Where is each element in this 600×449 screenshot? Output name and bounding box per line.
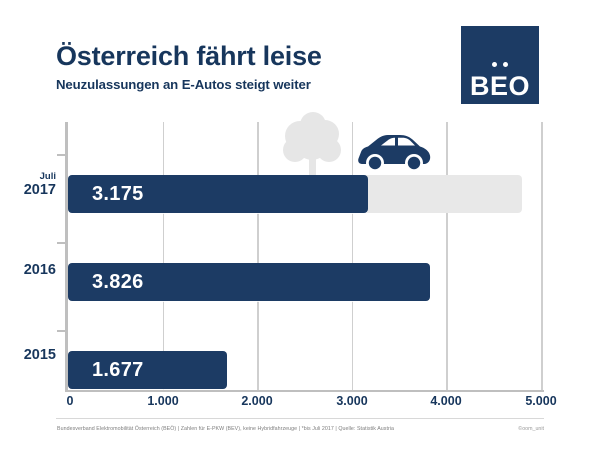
car-icon (356, 130, 432, 178)
y-label-2017-main: 2017 (24, 182, 60, 199)
logo-text: BEO (461, 73, 539, 100)
y-axis-labels: Juli 2017 2016 2015 (0, 122, 60, 390)
logo-dots-icon (461, 62, 539, 67)
gridline-4000 (446, 122, 448, 390)
y-label-2015-main: 2015 (24, 347, 60, 364)
bar-label-2015: 1.677 (92, 351, 144, 389)
gridline-2000 (257, 122, 259, 390)
footer-credit-text: ©oom_unit (518, 426, 544, 432)
x-axis-line (65, 390, 544, 392)
page-subtitle: Neuzulassungen an E-Autos steigt weiter (56, 77, 456, 92)
page-title: Österreich fährt leise (56, 42, 456, 70)
y-label-2015: 2015 (24, 347, 60, 364)
chart-plot-area: 3.175 3.826 1.677 (68, 122, 541, 390)
x-tick-label-5000: 5.000 (525, 394, 556, 408)
gridline-1000 (163, 122, 165, 390)
logo-dot-left (492, 62, 497, 67)
header: Österreich fährt leise Neuzulassungen an… (56, 42, 456, 92)
x-tick-label-4000: 4.000 (430, 394, 461, 408)
y-label-2017: Juli 2017 (24, 172, 60, 199)
footer-source-text: Bundesverband Elektromobilität Österreic… (57, 426, 394, 432)
y-axis-line (65, 122, 68, 390)
y-tick-2015 (57, 330, 65, 332)
gridline-5000 (541, 122, 543, 390)
y-tick-2017 (57, 154, 65, 156)
bar-label-2016: 3.826 (92, 263, 144, 301)
x-tick-label-3000: 3.000 (336, 394, 367, 408)
x-tick-label-1000: 1.000 (147, 394, 178, 408)
y-tick-2016 (57, 242, 65, 244)
x-tick-label-2000: 2.000 (241, 394, 272, 408)
bar-label-2017: 3.175 (92, 175, 144, 213)
gridline-3000 (352, 122, 354, 390)
x-axis-labels: 0 1.000 2.000 3.000 4.000 5.000 (0, 394, 600, 412)
logo-dot-right (503, 62, 508, 67)
footer-divider (56, 418, 544, 419)
y-label-2016-main: 2016 (24, 262, 60, 279)
y-label-2016: 2016 (24, 262, 60, 279)
y-label-2017-sub: Juli (24, 172, 60, 182)
beo-logo: BEO (461, 26, 539, 104)
x-tick-label-0: 0 (67, 394, 74, 408)
infographic-canvas: Österreich fährt leise Neuzulassungen an… (0, 0, 600, 449)
